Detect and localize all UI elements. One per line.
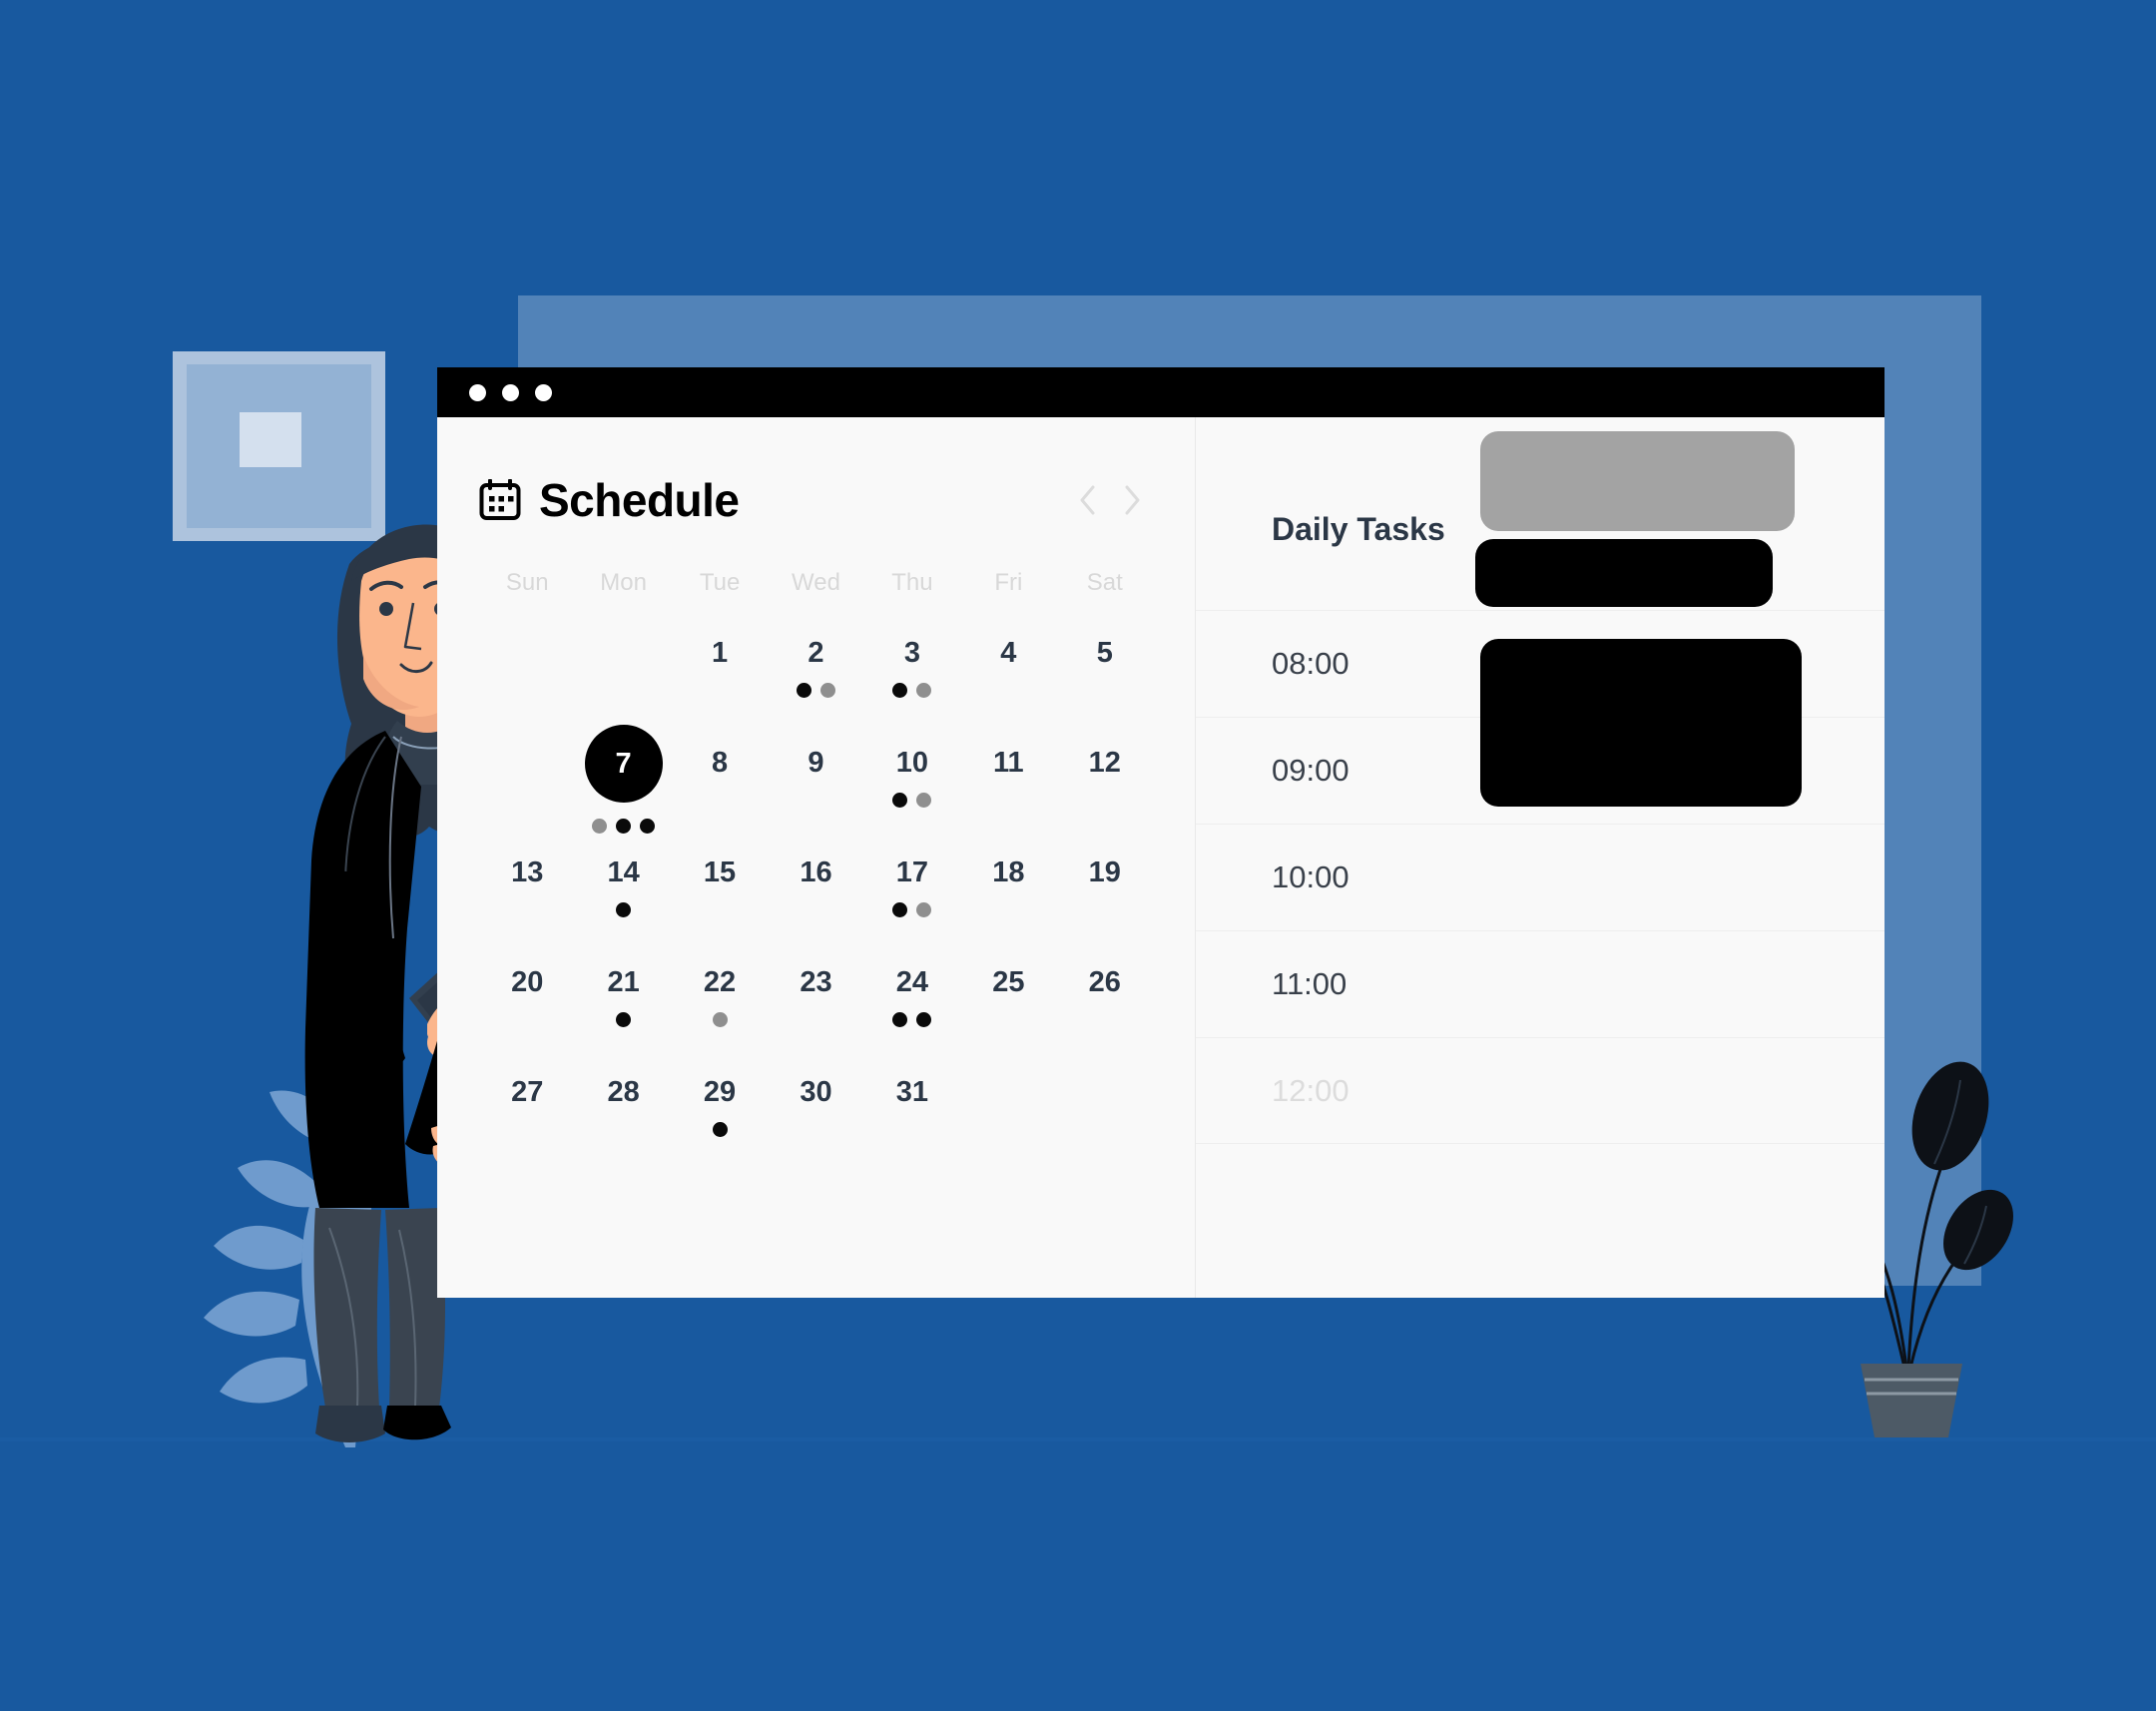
calendar-day-dots xyxy=(672,683,768,698)
calendar-day-number: 19 xyxy=(1089,847,1121,898)
event-dot-black xyxy=(616,1012,631,1027)
calendar-day-dots xyxy=(1057,902,1153,917)
calendar-day-19[interactable]: 19 xyxy=(1057,847,1153,956)
task-time-label: 12:00 xyxy=(1196,1073,1415,1109)
calendar-day-3[interactable]: 3 xyxy=(864,627,960,737)
calendar-day-number: 18 xyxy=(992,847,1024,898)
calendar-day-dots xyxy=(575,1122,671,1137)
event-dot-gray xyxy=(713,1012,728,1027)
day-of-week-header: Sun Mon Tue Wed Thu Fri Sat xyxy=(479,569,1153,627)
task-block-2[interactable] xyxy=(1475,539,1773,607)
picture-frame-center xyxy=(240,412,301,467)
calendar-day-16[interactable]: 16 xyxy=(768,847,863,956)
calendar-day-dots xyxy=(864,902,960,917)
calendar-day-10[interactable]: 10 xyxy=(864,737,960,847)
calendar-day-number: 12 xyxy=(1089,737,1121,789)
calendar-day-number: 2 xyxy=(808,627,823,679)
dow-wed: Wed xyxy=(768,569,863,627)
event-dot-black xyxy=(713,1122,728,1137)
window-dot-maximize[interactable] xyxy=(535,384,552,401)
calendar-day-number: 15 xyxy=(704,847,736,898)
calendar-day-dots xyxy=(479,1012,575,1027)
calendar-day-25[interactable]: 25 xyxy=(960,956,1056,1066)
calendar-day-number: 21 xyxy=(608,956,640,1008)
event-dot-gray xyxy=(916,683,931,698)
event-dot-black xyxy=(892,793,907,808)
browser-window: Schedule Sun Mon Tue Wed Thu Fri Sat xyxy=(437,367,1885,1298)
event-dot-black xyxy=(892,683,907,698)
calendar-day-number: 4 xyxy=(1000,627,1016,679)
dow-mon: Mon xyxy=(575,569,671,627)
calendar-header: Schedule xyxy=(479,477,1153,523)
calendar-day-dots xyxy=(768,1012,863,1027)
calendar-day-8[interactable]: 8 xyxy=(672,737,768,847)
calendar-icon xyxy=(479,479,521,521)
calendar-day-number: 27 xyxy=(511,1066,543,1118)
event-dot-gray xyxy=(592,819,607,834)
calendar-day-dots xyxy=(768,793,863,808)
calendar-day-7[interactable]: 7 xyxy=(575,737,671,847)
chevron-right-icon[interactable] xyxy=(1121,483,1143,517)
calendar-day-dots xyxy=(960,683,1056,698)
calendar-day-number: 14 xyxy=(608,847,640,898)
task-row[interactable]: 10:00 xyxy=(1196,824,1885,930)
calendar-day-dots xyxy=(672,793,768,808)
calendar-week-row: 2728293031 xyxy=(479,1066,1153,1176)
calendar-day-1[interactable]: 1 xyxy=(672,627,768,737)
calendar-day-2[interactable]: 2 xyxy=(768,627,863,737)
calendar-day-21[interactable]: 21 xyxy=(575,956,671,1066)
calendar-day-dots xyxy=(1057,1012,1153,1027)
calendar-day-dots xyxy=(768,1122,863,1137)
calendar-week-row: 20212223242526 xyxy=(479,956,1153,1066)
calendar-day-number: 3 xyxy=(904,627,920,679)
calendar-day-number: 22 xyxy=(704,956,736,1008)
calendar-day-20[interactable]: 20 xyxy=(479,956,575,1066)
calendar-day-dots xyxy=(1057,683,1153,698)
calendar-day-15[interactable]: 15 xyxy=(672,847,768,956)
calendar-day-number: 10 xyxy=(896,737,928,789)
task-row[interactable]: 12:00 xyxy=(1196,1037,1885,1144)
calendar-day-11[interactable]: 11 xyxy=(960,737,1056,847)
calendar-day-number: 23 xyxy=(800,956,831,1008)
event-dot-black xyxy=(797,683,811,698)
calendar-day-dots xyxy=(960,902,1056,917)
event-dot-black xyxy=(892,1012,907,1027)
calendar-day-23[interactable]: 23 xyxy=(768,956,863,1066)
calendar-day-18[interactable]: 18 xyxy=(960,847,1056,956)
calendar-day-9[interactable]: 9 xyxy=(768,737,863,847)
window-dot-minimize[interactable] xyxy=(502,384,519,401)
calendar-day-17[interactable]: 17 xyxy=(864,847,960,956)
event-dot-gray xyxy=(916,902,931,917)
task-time-label: 09:00 xyxy=(1196,753,1415,789)
calendar-week-row: 12345 xyxy=(479,627,1153,737)
calendar-week-row: 13141516171819 xyxy=(479,847,1153,956)
calendar-day-29[interactable]: 29 xyxy=(672,1066,768,1176)
dow-thu: Thu xyxy=(864,569,960,627)
window-titlebar xyxy=(437,367,1885,417)
calendar-day-dots xyxy=(1057,793,1153,808)
calendar-day-dots xyxy=(768,902,863,917)
daily-tasks-pane: Daily Tasks 08:0009:0010:0011:0012:00 xyxy=(1196,417,1885,1298)
calendar-day-dots xyxy=(575,902,671,917)
calendar-day-13[interactable]: 13 xyxy=(479,847,575,956)
calendar-day-27[interactable]: 27 xyxy=(479,1066,575,1176)
calendar-day-dots xyxy=(479,1122,575,1137)
dow-sun: Sun xyxy=(479,569,575,627)
calendar-day-dots xyxy=(575,1012,671,1027)
calendar-day-number: 7 xyxy=(585,725,663,803)
calendar-day-4[interactable]: 4 xyxy=(960,627,1056,737)
calendar-day-number: 11 xyxy=(993,737,1024,789)
task-block-1[interactable] xyxy=(1480,431,1795,531)
calendar-day-30[interactable]: 30 xyxy=(768,1066,863,1176)
event-dot-black xyxy=(616,902,631,917)
window-dot-close[interactable] xyxy=(469,384,486,401)
calendar-day-dots xyxy=(864,683,960,698)
event-dot-black xyxy=(616,819,631,834)
calendar-day-dots xyxy=(864,1012,960,1027)
task-time-label: 11:00 xyxy=(1196,966,1415,1002)
event-dot-black xyxy=(892,902,907,917)
calendar-day-number: 1 xyxy=(712,627,728,679)
calendar-grid: 1234578910111213141516171819202122232425… xyxy=(479,627,1153,1176)
calendar-day-12[interactable]: 12 xyxy=(1057,737,1153,847)
calendar-pane: Schedule Sun Mon Tue Wed Thu Fri Sat xyxy=(437,417,1196,1298)
event-dot-black xyxy=(640,819,655,834)
chevron-left-icon[interactable] xyxy=(1077,483,1099,517)
calendar-day-number: 9 xyxy=(808,737,823,789)
calendar-day-5[interactable]: 5 xyxy=(1057,627,1153,737)
calendar-day-dots xyxy=(960,1012,1056,1027)
calendar-day-number: 29 xyxy=(704,1066,736,1118)
event-dot-black xyxy=(916,1012,931,1027)
calendar-day-number: 17 xyxy=(896,847,928,898)
calendar-day-dots xyxy=(672,1012,768,1027)
calendar-day-26[interactable]: 26 xyxy=(1057,956,1153,1066)
calendar-day-31[interactable]: 31 xyxy=(864,1066,960,1176)
event-dot-gray xyxy=(916,793,931,808)
calendar-day-dots xyxy=(960,793,1056,808)
calendar-day-number: 26 xyxy=(1089,956,1121,1008)
calendar-day-number: 20 xyxy=(511,956,543,1008)
calendar-day-24[interactable]: 24 xyxy=(864,956,960,1066)
page-title: Schedule xyxy=(539,477,740,523)
calendar-day-dots xyxy=(479,902,575,917)
task-time-label: 10:00 xyxy=(1196,859,1415,895)
calendar-day-14[interactable]: 14 xyxy=(575,847,671,956)
task-block-3[interactable] xyxy=(1480,639,1802,807)
calendar-day-dots xyxy=(768,683,863,698)
task-time-label: 08:00 xyxy=(1196,646,1415,682)
calendar-day-number: 31 xyxy=(896,1066,928,1118)
calendar-nav xyxy=(1077,483,1153,517)
calendar-day-number: 5 xyxy=(1097,627,1113,679)
calendar-day-number: 16 xyxy=(800,847,831,898)
calendar-day-number: 25 xyxy=(992,956,1024,1008)
dow-fri: Fri xyxy=(960,569,1056,627)
dow-tue: Tue xyxy=(672,569,768,627)
event-dot-gray xyxy=(820,683,835,698)
calendar-day-dots xyxy=(672,902,768,917)
calendar-day-28[interactable]: 28 xyxy=(575,1066,671,1176)
calendar-day-number: 28 xyxy=(608,1066,640,1118)
calendar-day-dots xyxy=(575,819,671,834)
calendar-day-number: 24 xyxy=(896,956,928,1008)
calendar-day-number: 13 xyxy=(511,847,543,898)
task-row[interactable]: 11:00 xyxy=(1196,930,1885,1037)
calendar-day-dots xyxy=(864,1122,960,1137)
calendar-day-22[interactable]: 22 xyxy=(672,956,768,1066)
calendar-day-dots xyxy=(864,793,960,808)
dow-sat: Sat xyxy=(1057,569,1153,627)
calendar-day-dots xyxy=(672,1122,768,1137)
calendar-week-row: 789101112 xyxy=(479,737,1153,847)
calendar-day-number: 30 xyxy=(800,1066,831,1118)
calendar-day-number: 8 xyxy=(712,737,728,789)
